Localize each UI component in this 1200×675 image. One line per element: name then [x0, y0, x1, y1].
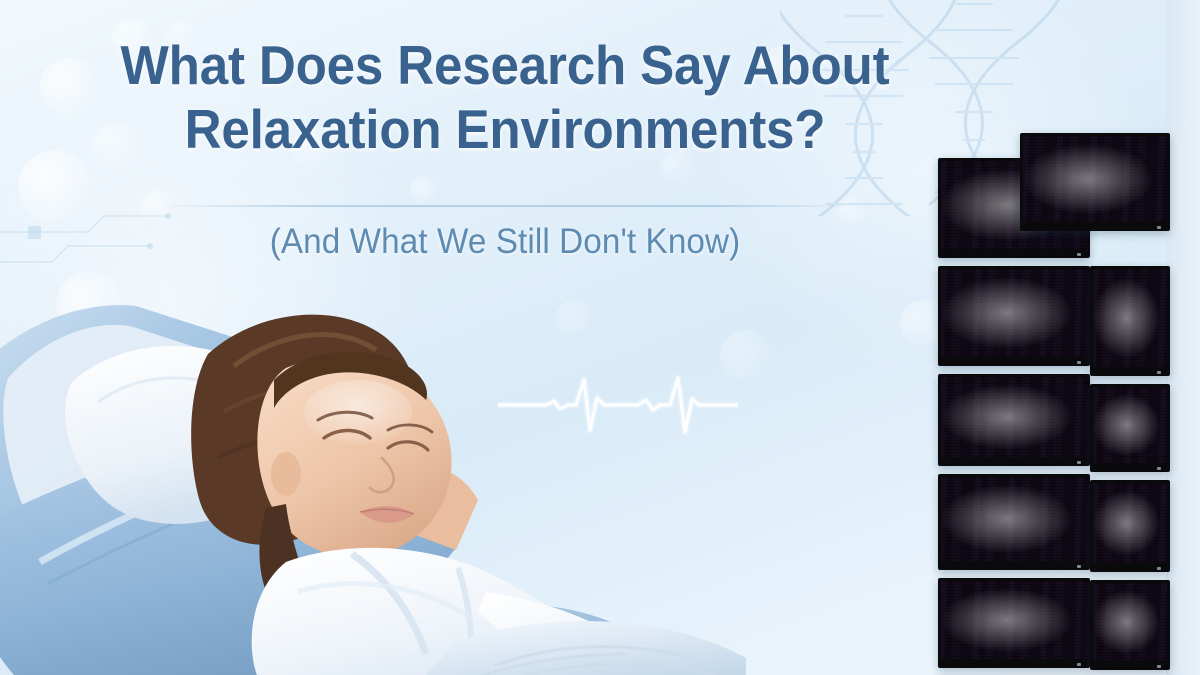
- screen-hotspot: [1023, 136, 1167, 222]
- monitor-screen-glitch: [1023, 136, 1167, 222]
- woman-relaxing-in-massage-chair: [0, 262, 746, 675]
- headline-line-1: What Does Research Say About: [121, 34, 890, 96]
- power-led-icon: [1077, 361, 1081, 364]
- headline-line-2: Relaxation Environments?: [35, 98, 974, 162]
- subtitle: (And What We Still Don't Know): [25, 222, 985, 262]
- screen-hotspot: [941, 581, 1087, 659]
- monitor-screen-glitch: [941, 581, 1087, 659]
- power-led-icon: [1157, 665, 1161, 668]
- bokeh-circle: [410, 176, 438, 204]
- monitor-screen-glitch: [1093, 483, 1167, 563]
- screen-hotspot: [1093, 269, 1167, 367]
- power-led-icon: [1077, 565, 1081, 568]
- heartbeat-pulse-line: [498, 372, 738, 438]
- screen-hotspot: [941, 269, 1087, 357]
- power-led-icon: [1077, 253, 1081, 256]
- monitor-screen-glitch: [1093, 583, 1167, 661]
- monitor-panel: [938, 578, 1090, 668]
- glitched-monitor-wall: [920, 118, 1200, 675]
- screen-hotspot: [1093, 583, 1167, 661]
- page-title: What Does Research Say About Relaxation …: [35, 34, 974, 162]
- monitor-panel: [1090, 480, 1170, 572]
- headline-divider: [160, 205, 860, 207]
- monitor-panel: [1090, 580, 1170, 670]
- power-led-icon: [1157, 467, 1161, 470]
- monitor-screen-glitch: [941, 269, 1087, 357]
- ear: [271, 452, 301, 496]
- monitor-screen-glitch: [941, 477, 1087, 561]
- power-led-icon: [1077, 663, 1081, 666]
- screen-hotspot: [941, 377, 1087, 457]
- screen-hotspot: [941, 477, 1087, 561]
- monitor-panel: [1090, 384, 1170, 472]
- monitor-panel: [938, 474, 1090, 570]
- monitor-panel: [938, 266, 1090, 366]
- monitor-screen-glitch: [1093, 269, 1167, 367]
- relaxation-research-banner: What Does Research Say About Relaxation …: [0, 0, 1200, 675]
- power-led-icon: [1157, 226, 1161, 229]
- power-led-icon: [1157, 567, 1161, 570]
- power-led-icon: [1157, 371, 1161, 374]
- monitor-panel: [1090, 266, 1170, 376]
- power-led-icon: [1077, 461, 1081, 464]
- screen-hotspot: [1093, 387, 1167, 463]
- bokeh-circle: [140, 190, 174, 224]
- headline-block: What Does Research Say About Relaxation …: [0, 34, 1010, 162]
- monitor-screen-glitch: [1093, 387, 1167, 463]
- monitor-panel: [938, 374, 1090, 466]
- screen-hotspot: [1093, 483, 1167, 563]
- subheadline-block: (And What We Still Don't Know): [0, 222, 1010, 262]
- monitor-panel: [1020, 133, 1170, 231]
- monitor-screen-glitch: [941, 377, 1087, 457]
